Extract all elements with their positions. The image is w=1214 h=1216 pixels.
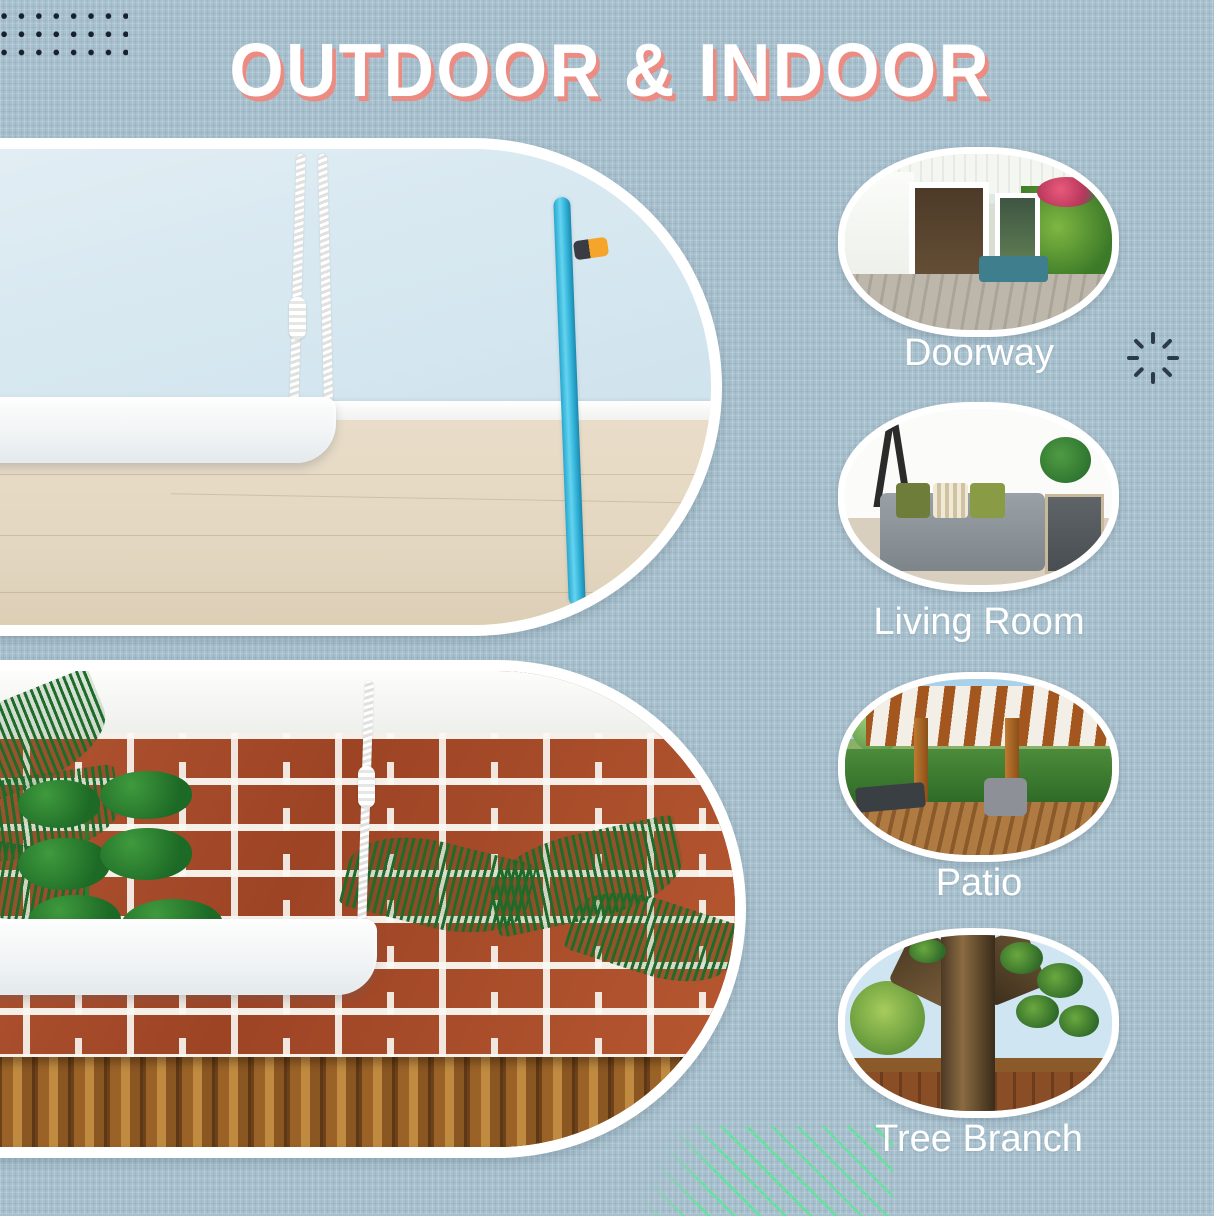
plant-leaf — [100, 828, 192, 880]
placement-thumbnail-patio[interactable] — [838, 672, 1119, 862]
outdoor-scene — [0, 671, 735, 1147]
plant-leaf — [100, 771, 192, 819]
placement-label-patio: Patio — [800, 862, 1158, 904]
indoor-wall — [0, 149, 711, 420]
rope-bead — [289, 297, 306, 339]
rope-bead — [358, 766, 375, 808]
plant-leaf — [18, 838, 110, 890]
indoor-swing-photo — [0, 138, 722, 636]
living-room-scene — [845, 409, 1112, 585]
plant-leaf — [18, 780, 100, 828]
placement-thumbnail-tree-branch[interactable] — [838, 928, 1119, 1118]
placement-thumbnail-living-room[interactable] — [838, 402, 1119, 592]
indoor-scene — [0, 149, 711, 625]
swing-seat — [0, 397, 336, 464]
swing-seat — [0, 919, 377, 995]
placement-thumbnail-doorway[interactable] — [838, 147, 1119, 337]
placement-label-tree-branch: Tree Branch — [800, 1118, 1158, 1160]
log-border — [0, 1057, 735, 1147]
placement-label-doorway: Doorway — [800, 332, 1158, 374]
patio-scene — [845, 679, 1112, 855]
doorway-scene — [845, 154, 1112, 330]
placement-label-living-room: Living Room — [800, 601, 1158, 643]
sunburst-spinner-icon — [1125, 330, 1181, 386]
outdoor-swing-photo — [0, 660, 746, 1158]
tree-branch-scene — [845, 935, 1112, 1111]
dot-grid-decoration — [0, 7, 128, 59]
